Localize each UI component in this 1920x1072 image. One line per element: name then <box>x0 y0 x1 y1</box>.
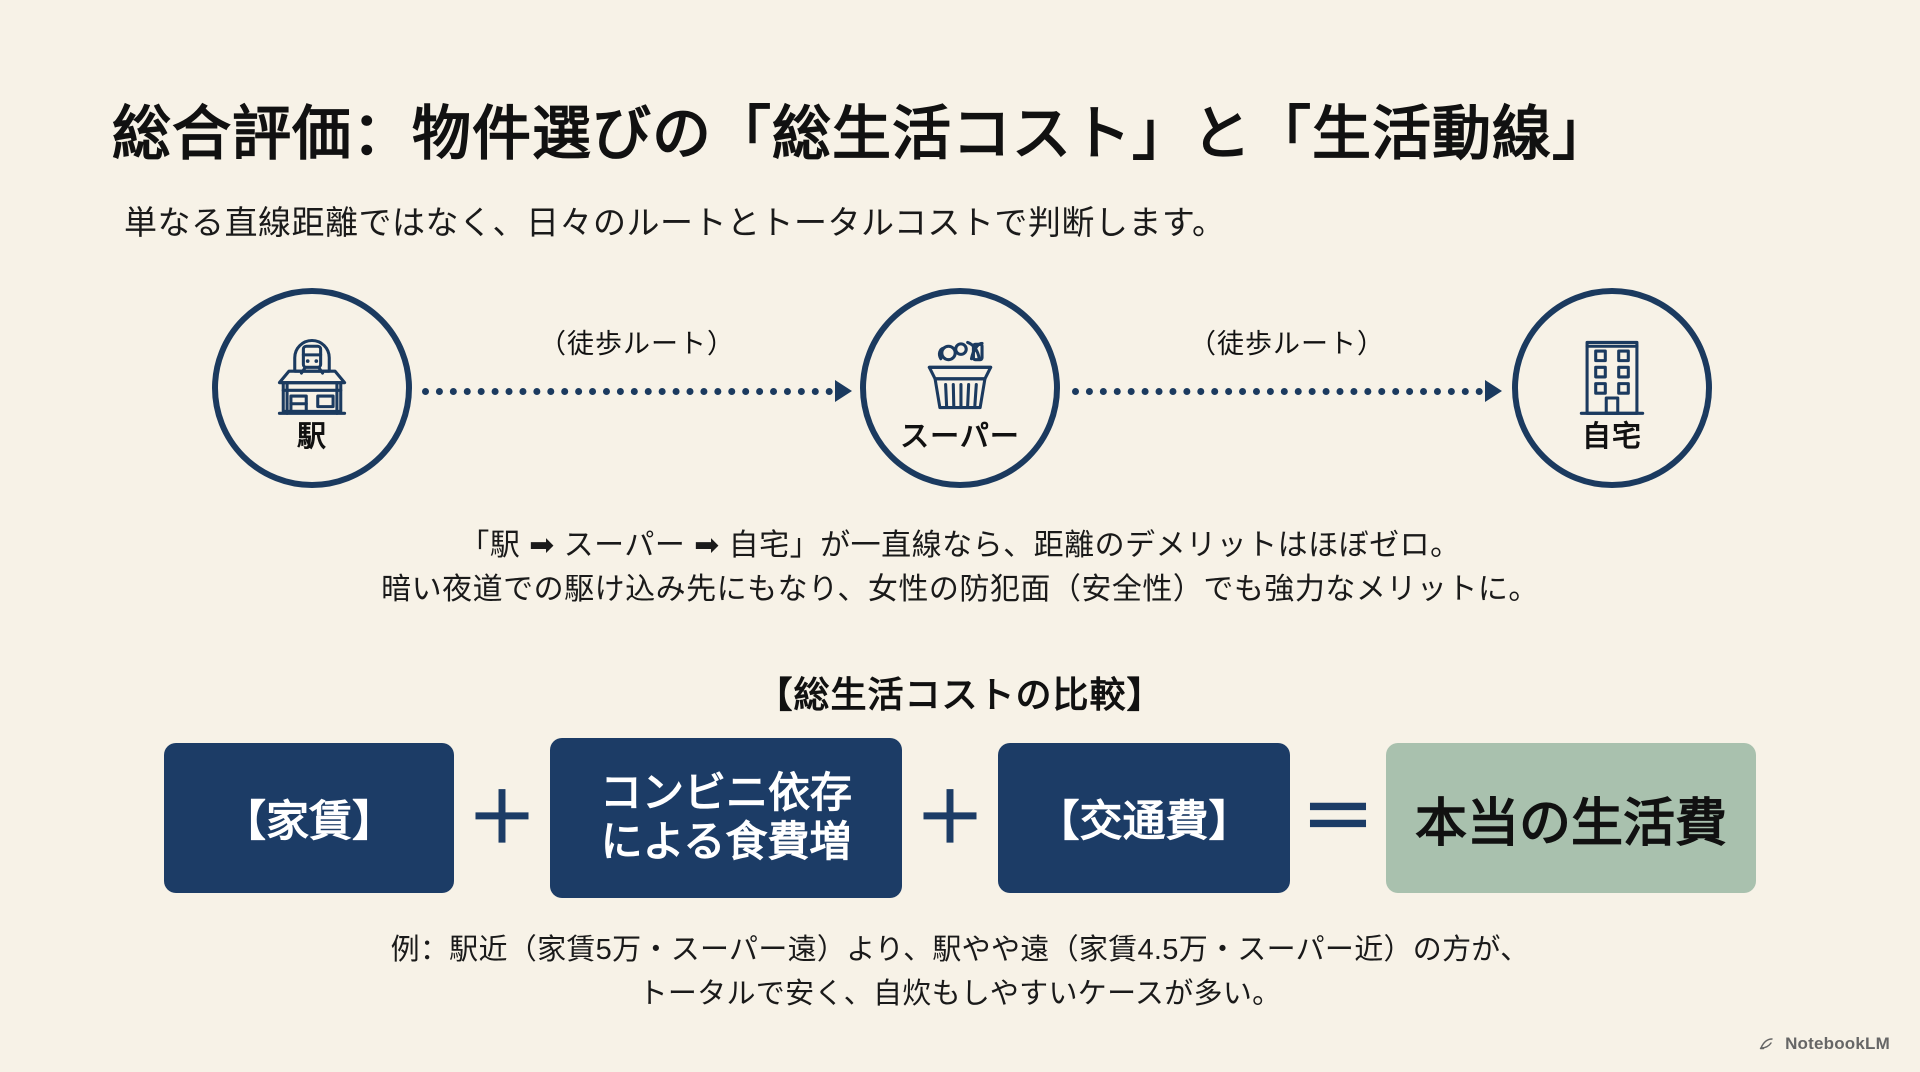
route-connector-label: （徒歩ルート） <box>1189 322 1385 361</box>
equals-operator: ＝ <box>1290 781 1386 855</box>
flow-node-label: 自宅 <box>1582 423 1642 452</box>
shopping-basket-icon <box>912 329 1008 421</box>
example-note: 例：駅近（家賃5万・スーパー遠）より、駅やや遠（家賃4.5万・スーパー近）の方が… <box>0 928 1920 1016</box>
total-cost-formula: 【家賃】 ＋ コンビニ依存 による食費増 ＋ 【交通費】 ＝ 本当の生活費 <box>0 738 1920 898</box>
page-title: 総合評価：物件選びの「総生活コスト」と「生活動線」 <box>112 86 1612 171</box>
flow-node-label: 駅 <box>297 423 327 452</box>
example-note-line-1: 例：駅近（家賃5万・スーパー遠）より、駅やや遠（家賃4.5万・スーパー近）の方が… <box>0 928 1920 972</box>
cost-term-food-line-1: コンビニ依存 <box>600 769 852 818</box>
plus-operator-2: ＋ <box>902 783 998 853</box>
route-connector-2: （徒歩ルート） <box>1072 384 1502 398</box>
route-flow-diagram: 駅 （徒歩ルート） <box>0 288 1920 498</box>
cost-term-food-line-2: による食費増 <box>600 818 852 867</box>
notebooklm-watermark: NotebookLM <box>1759 1034 1890 1054</box>
notebooklm-logo-icon <box>1759 1036 1778 1052</box>
route-note-line-1: 「駅 ➡ スーパー ➡ 自宅」が一直線なら、距離のデメリットはほぼゼロ。 <box>0 524 1920 568</box>
cost-result-real-living-cost[interactable]: 本当の生活費 <box>1386 743 1756 893</box>
arrow-head-icon <box>835 380 852 402</box>
arrow-head-icon <box>1485 380 1502 402</box>
dotted-line <box>1072 388 1483 395</box>
flow-node-station[interactable]: 駅 <box>212 288 412 488</box>
flow-node-supermarket[interactable]: スーパー <box>860 288 1060 488</box>
train-station-icon <box>264 329 360 421</box>
dotted-line <box>422 388 833 395</box>
example-note-line-2: トータルで安く、自炊もしやすいケースが多い。 <box>0 972 1920 1016</box>
flow-node-home[interactable]: 自宅 <box>1512 288 1712 488</box>
route-connector-label: （徒歩ルート） <box>539 322 735 361</box>
notebooklm-label: NotebookLM <box>1785 1034 1890 1054</box>
route-connector-1: （徒歩ルート） <box>422 384 852 398</box>
page-subtitle: 単なる直線距離ではなく、日々のルートとトータルコストで判断します。 <box>124 196 1226 244</box>
route-note-line-2: 暗い夜道での駆け込み先にもなり、女性の防犯面（安全性）でも強力なメリットに。 <box>0 568 1920 612</box>
cost-term-rent[interactable]: 【家賃】 <box>164 743 454 893</box>
slide-canvas: 総合評価：物件選びの「総生活コスト」と「生活動線」 単なる直線距離ではなく、日々… <box>0 0 1920 1072</box>
route-note: 「駅 ➡ スーパー ➡ 自宅」が一直線なら、距離のデメリットはほぼゼロ。 暗い夜… <box>0 524 1920 612</box>
cost-term-food[interactable]: コンビニ依存 による食費増 <box>550 738 902 898</box>
apartment-building-icon <box>1564 329 1660 421</box>
plus-operator-1: ＋ <box>454 783 550 853</box>
cost-section-heading: 【総生活コストの比較】 <box>0 666 1920 718</box>
flow-node-label: スーパー <box>900 423 1020 452</box>
cost-term-transport[interactable]: 【交通費】 <box>998 743 1290 893</box>
